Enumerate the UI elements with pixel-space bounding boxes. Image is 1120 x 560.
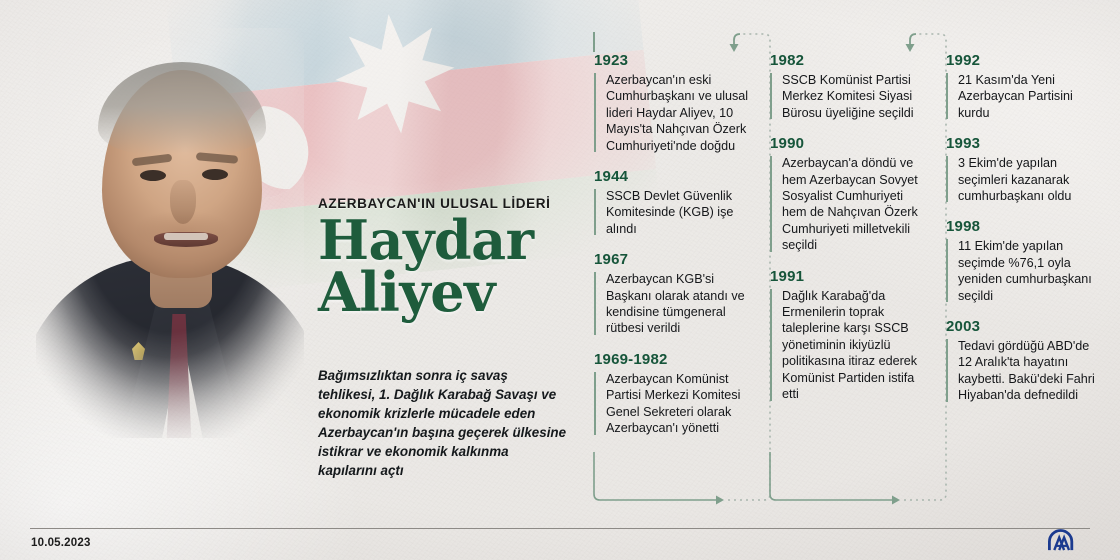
- timeline-column-3: 1992 21 Kasım'da Yeni Azerbaycan Partisi…: [928, 0, 1104, 520]
- anadolu-agency-logo-icon: [1048, 529, 1090, 553]
- timeline-event: 1967 Azerbaycan KGB'si Başkanı olarak at…: [594, 251, 750, 337]
- event-description: 3 Ekim'de yapılan seçimleri kazanarak cu…: [958, 155, 1102, 204]
- event-description: Azerbaycan'a döndü ve hem Azerbaycan Sov…: [782, 155, 926, 253]
- event-year: 1923: [594, 52, 750, 69]
- timeline-event: 1969-1982 Azerbaycan Komünist Partisi Me…: [594, 351, 750, 437]
- event-year: 1993: [946, 135, 1102, 152]
- event-description: SSCB Devlet Güvenlik Komitesinde (KGB) i…: [606, 188, 750, 237]
- event-year: 2003: [946, 318, 1102, 335]
- event-description: Azerbaycan Komünist Partisi Merkezi Komi…: [606, 371, 750, 437]
- event-year: 1982: [770, 52, 926, 69]
- timeline-column-2: 1982 SSCB Komünist Partisi Merkez Komite…: [752, 0, 928, 520]
- headline-block: AZERBAYCAN'IN ULUSAL LİDERİ Haydar Aliye…: [318, 196, 576, 319]
- event-description: Dağlık Karabağ'da Ermenilerin toprak tal…: [782, 288, 926, 403]
- event-year: 1992: [946, 52, 1102, 69]
- event-year: 1969-1982: [594, 351, 750, 368]
- timeline-column-1: 1923 Azerbaycan'ın eski Cumhurbaşkanı ve…: [576, 0, 752, 520]
- page-title-line2: Aliyev: [318, 267, 576, 319]
- timeline-event: 1991 Dağlık Karabağ'da Ermenilerin topra…: [770, 268, 926, 403]
- timeline-event: 1944 SSCB Devlet Güvenlik Komitesinde (K…: [594, 168, 750, 237]
- event-year: 1967: [594, 251, 750, 268]
- footer-divider: [30, 528, 1090, 529]
- publish-date: 10.05.2023: [31, 537, 91, 549]
- event-description: 11 Ekim'de yapılan seçimde %76,1 oyla ye…: [958, 238, 1102, 304]
- timeline-event: 1923 Azerbaycan'ın eski Cumhurbaşkanı ve…: [594, 52, 750, 154]
- timeline-event: 1998 11 Ekim'de yapılan seçimde %76,1 oy…: [946, 218, 1102, 304]
- summary-text: Bağımsızlıktan sonra iç savaş tehlikesi,…: [318, 366, 568, 480]
- timeline-event: 1993 3 Ekim'de yapılan seçimleri kazanar…: [946, 135, 1102, 204]
- event-year: 1998: [946, 218, 1102, 235]
- event-description: SSCB Komünist Partisi Merkez Komitesi Si…: [782, 72, 926, 121]
- event-description: Azerbaycan'ın eski Cumhurbaşkanı ve ulus…: [606, 72, 750, 154]
- event-year: 1944: [594, 168, 750, 185]
- timeline-event: 2003 Tedavi gördüğü ABD'de 12 Aralık'ta …: [946, 318, 1102, 404]
- event-year: 1990: [770, 135, 926, 152]
- timeline-event: 1990 Azerbaycan'a döndü ve hem Azerbayca…: [770, 135, 926, 253]
- timeline-event: 1982 SSCB Komünist Partisi Merkez Komite…: [770, 52, 926, 121]
- event-year: 1991: [770, 268, 926, 285]
- event-description: Tedavi gördüğü ABD'de 12 Aralık'ta hayat…: [958, 338, 1102, 404]
- timeline-event: 1992 21 Kasım'da Yeni Azerbaycan Partisi…: [946, 52, 1102, 121]
- page-title: Haydar Aliyev: [318, 215, 576, 319]
- event-description: 21 Kasım'da Yeni Azerbaycan Partisini ku…: [958, 72, 1102, 121]
- timeline: 1923 Azerbaycan'ın eski Cumhurbaşkanı ve…: [570, 0, 1120, 520]
- event-description: Azerbaycan KGB'si Başkanı olarak atandı …: [606, 271, 750, 337]
